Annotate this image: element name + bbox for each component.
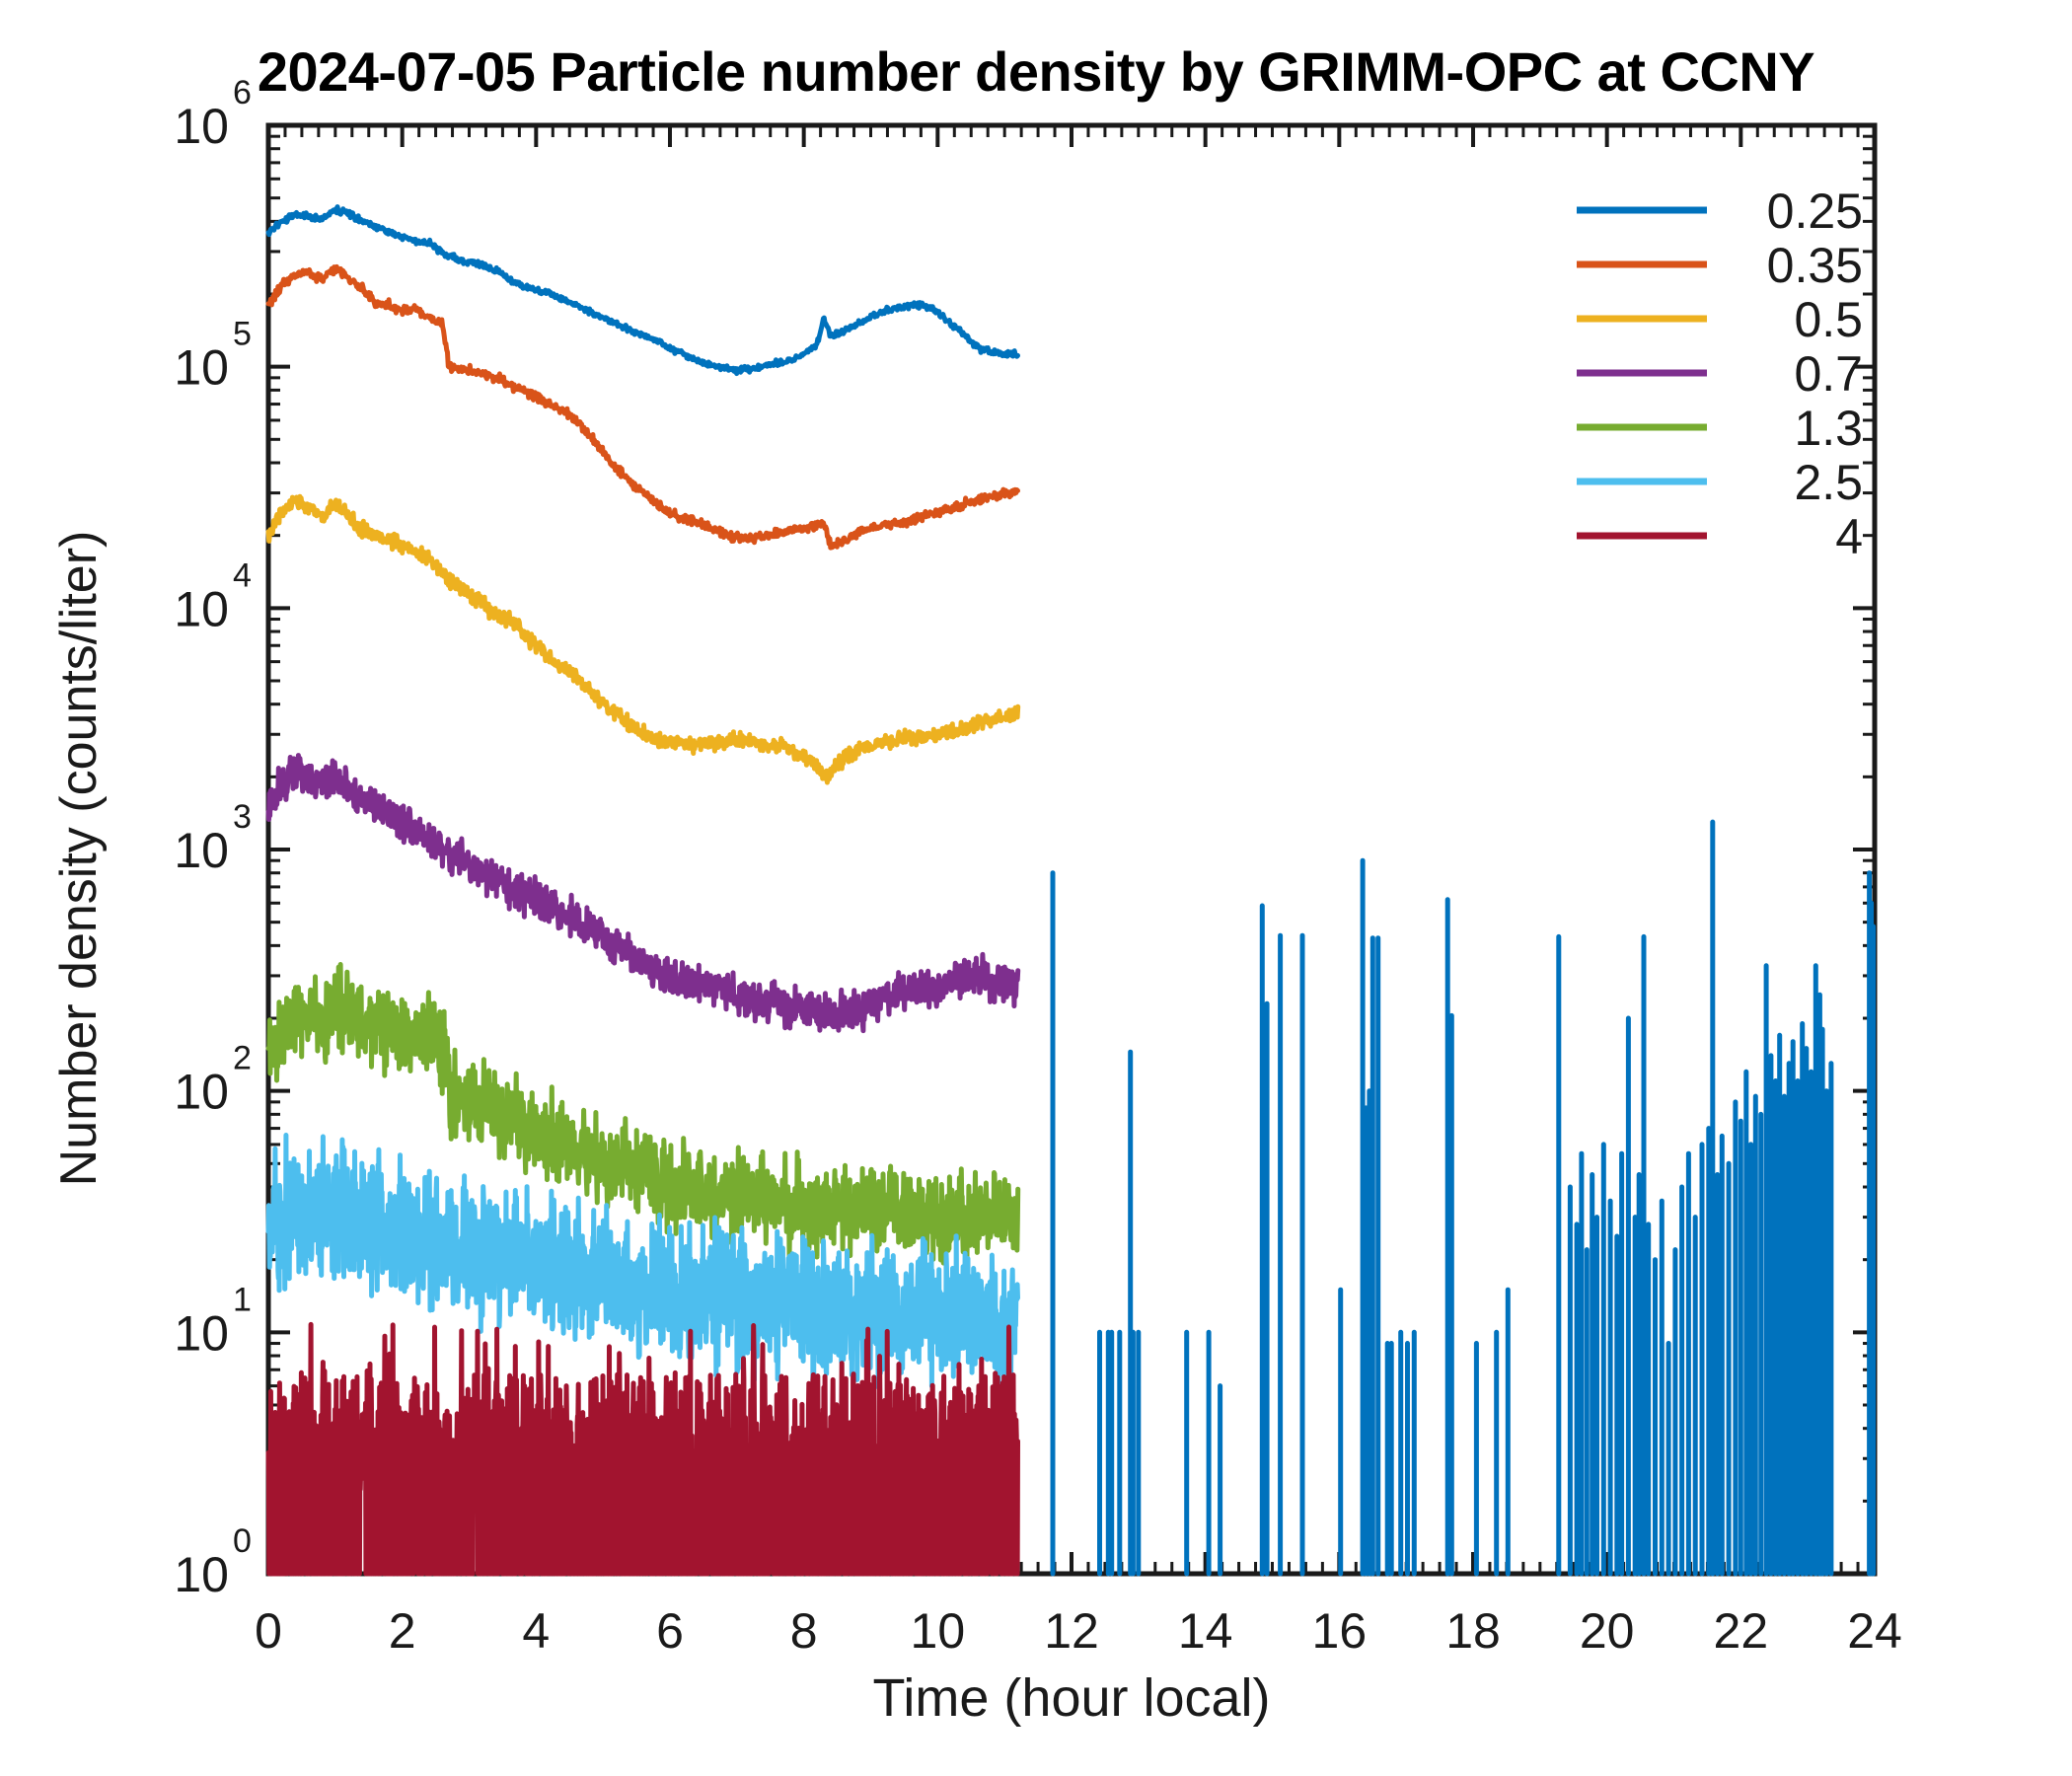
x-tick-label: 2 xyxy=(389,1603,416,1659)
legend-label-1p3: 1.3 xyxy=(1794,401,1863,456)
legend-label-0p35: 0.35 xyxy=(1767,238,1863,293)
y-tick-label: 10 xyxy=(174,581,229,636)
x-tick-label: 14 xyxy=(1178,1603,1233,1659)
y-tick-label: 10 xyxy=(174,1547,229,1602)
plot-area: 0246810121416182022241001011021031041051… xyxy=(0,0,2072,1776)
legend-label-2p5: 2.5 xyxy=(1794,455,1863,510)
x-tick-label: 16 xyxy=(1312,1603,1368,1659)
y-tick-exponent: 2 xyxy=(233,1040,252,1077)
y-tick-label: 10 xyxy=(174,340,229,396)
series-line-0p5 xyxy=(268,496,1018,782)
y-tick-label: 10 xyxy=(174,1305,229,1361)
x-tick-label: 10 xyxy=(911,1603,966,1659)
series-line-4 xyxy=(268,1324,1018,1574)
x-tick-label: 0 xyxy=(255,1603,282,1659)
legend-label-0p7: 0.7 xyxy=(1794,346,1863,402)
legend-label-4: 4 xyxy=(1835,509,1863,564)
legend-label-0p5: 0.5 xyxy=(1794,292,1863,347)
chart-figure: 2024-07-05 Particle number density by GR… xyxy=(0,0,2072,1776)
x-tick-label: 22 xyxy=(1714,1603,1769,1659)
y-tick-label: 10 xyxy=(174,99,229,154)
series-line-0p7 xyxy=(268,756,1018,1031)
legend: 0.250.350.50.71.32.54 xyxy=(1577,184,1863,564)
x-tick-label: 18 xyxy=(1445,1603,1501,1659)
y-tick-exponent: 5 xyxy=(233,316,252,353)
y-tick-exponent: 6 xyxy=(233,74,252,111)
y-tick-exponent: 3 xyxy=(233,798,252,836)
x-tick-label: 6 xyxy=(656,1603,684,1659)
y-tick-exponent: 0 xyxy=(233,1522,252,1560)
y-tick-label: 10 xyxy=(174,823,229,878)
y-tick-exponent: 1 xyxy=(233,1281,252,1318)
x-tick-label: 4 xyxy=(522,1603,550,1659)
y-tick-label: 10 xyxy=(174,1065,229,1120)
x-tick-label: 24 xyxy=(1847,1603,1902,1659)
y-tick-exponent: 4 xyxy=(233,556,252,594)
legend-label-0p25: 0.25 xyxy=(1767,184,1863,239)
series-line-0p25-sparse xyxy=(1053,822,1874,1574)
series-line-0p25 xyxy=(268,207,1018,374)
x-tick-label: 8 xyxy=(790,1603,818,1659)
x-tick-label: 20 xyxy=(1580,1603,1635,1659)
data-series-group xyxy=(268,207,1874,1574)
x-tick-label: 12 xyxy=(1044,1603,1099,1659)
